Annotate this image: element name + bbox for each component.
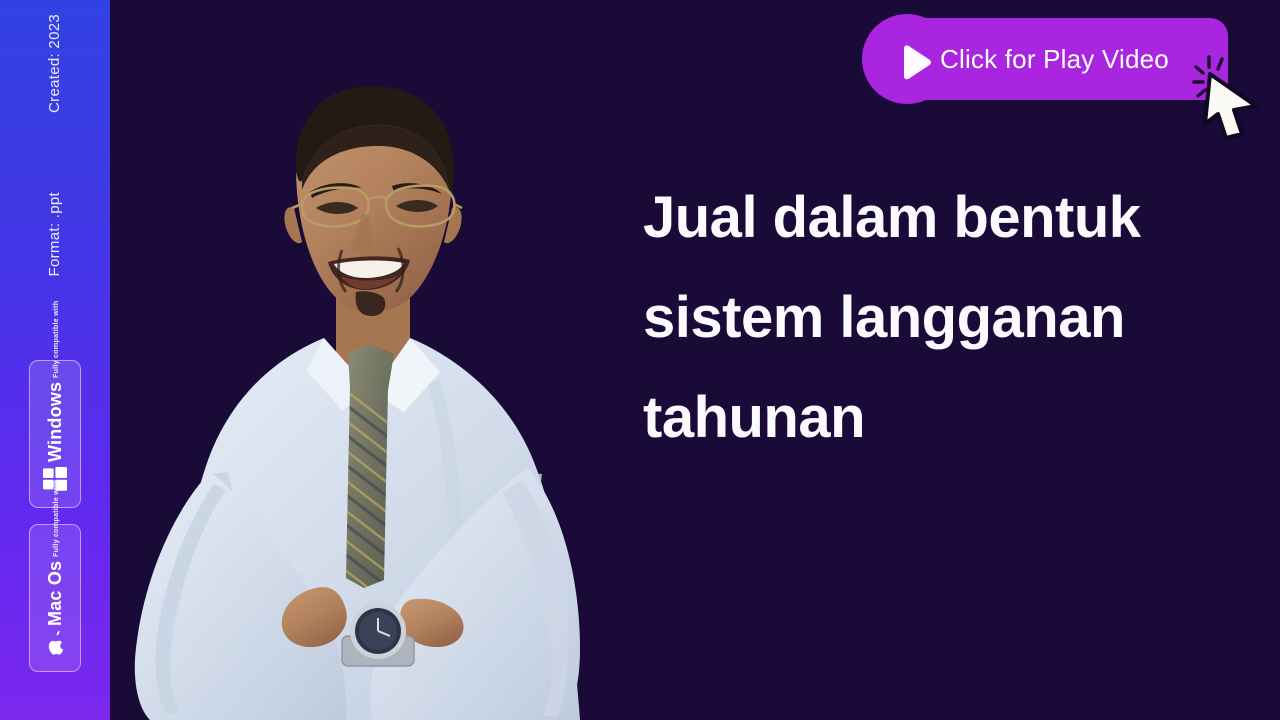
badge-mac-os-label: Mac Os (45, 561, 66, 626)
apple-logo-icon (42, 630, 68, 663)
play-triangle-icon (896, 43, 936, 88)
badge-windows-os-label: Windows (45, 382, 66, 462)
person-photo (110, 80, 640, 720)
badge-windows-sub-label: Fully compatible with (51, 300, 60, 377)
badge-compatible-mac[interactable]: Mac Os Fully compatible with (29, 524, 81, 672)
play-video-button[interactable]: Click for Play Video (862, 18, 1228, 100)
badge-mac-text: Mac Os Fully compatible with (45, 534, 66, 626)
badge-mac-sub-label: Fully compatible with (51, 479, 60, 556)
file-format-label: Format: .ppt (46, 192, 63, 276)
badge-windows-text: Windows Fully compatible with (45, 370, 66, 462)
page-title: Jual dalam bentuk sistem langganan tahun… (643, 168, 1203, 468)
play-video-button-label: Click for Play Video (940, 18, 1169, 100)
created-year-label: Created: 2023 (46, 14, 63, 113)
sidebar: Created: 2023 Format: .ppt Windows Fully… (0, 0, 110, 720)
